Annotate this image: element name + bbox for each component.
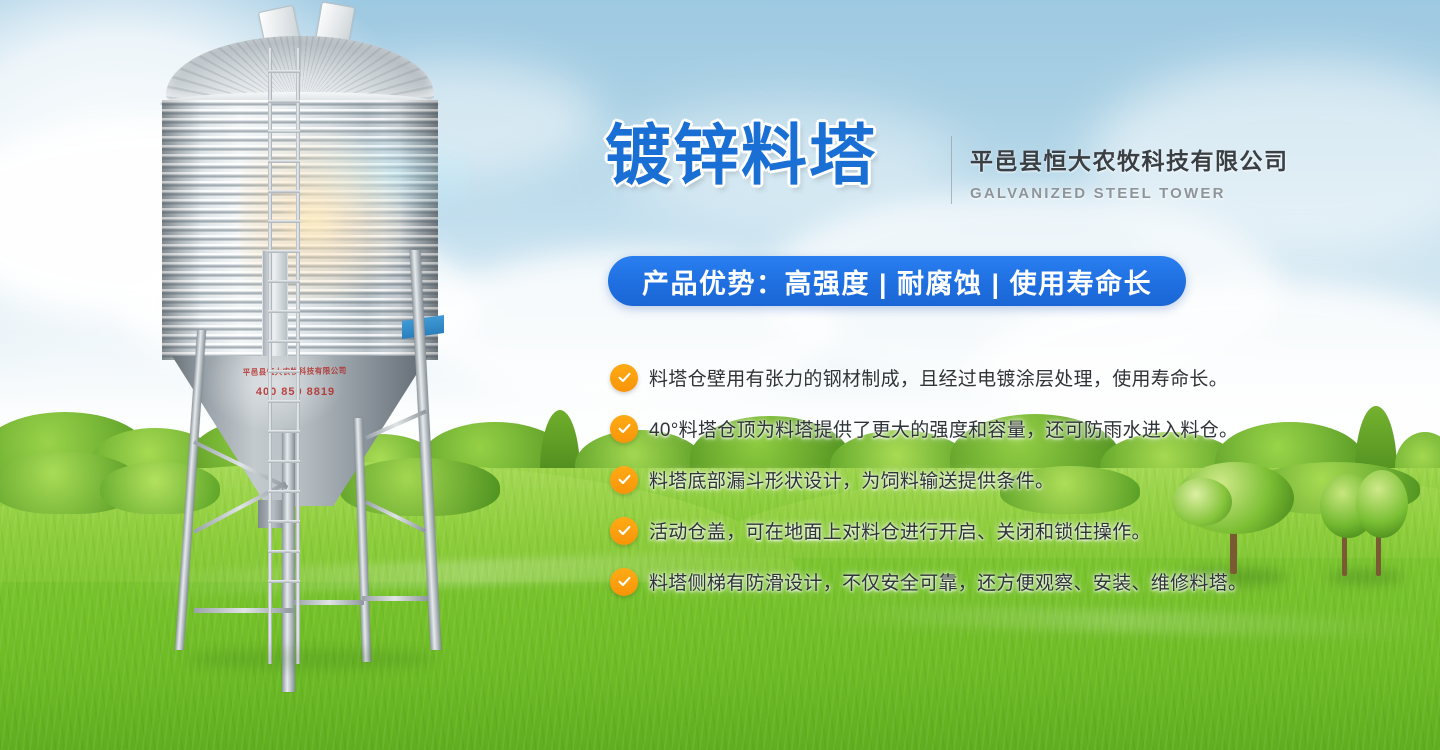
feature-item: 料塔仓壁用有张力的钢材制成，且经过电镀涂层处理，使用寿命长。: [610, 362, 1247, 393]
company-block: 平邑县恒大农牧科技有限公司 GALVANIZED STEEL TOWER: [970, 142, 1289, 202]
feature-text: 活动仓盖，可在地面上对料仓进行开启、关闭和锁住操作。: [649, 517, 1151, 544]
feature-text: 料塔仓壁用有张力的钢材制成，且经过电镀涂层处理，使用寿命长。: [649, 364, 1228, 391]
title-row: 镀锌料塔: [605, 122, 877, 188]
title-divider: [951, 136, 952, 204]
advantage-banner: 产品优势：高强度 | 耐腐蚀 | 使用寿命长: [608, 256, 1186, 306]
feature-item: 料塔侧梯有防滑设计，不仅安全可靠，还方便观察、安装、维修料塔。: [610, 566, 1247, 597]
check-circle-icon: [610, 415, 638, 443]
check-circle-icon: [610, 364, 638, 392]
company-name: 平邑县恒大农牧科技有限公司: [970, 142, 1289, 176]
page-title: 镀锌料塔: [605, 122, 877, 188]
advantage-banner-text: 产品优势：高强度 | 耐腐蚀 | 使用寿命长: [642, 262, 1152, 301]
feature-item: 40°料塔仓顶为料塔提供了更大的强度和容量，还可防雨水进入料仓。: [610, 413, 1247, 444]
feature-item: 料塔底部漏斗形状设计，为饲料输送提供条件。: [610, 464, 1247, 495]
feature-text: 40°料塔仓顶为料塔提供了更大的强度和容量，还可防雨水进入料仓。: [649, 415, 1238, 442]
feature-text: 料塔底部漏斗形状设计，为饲料输送提供条件。: [649, 466, 1054, 493]
check-circle-icon: [610, 568, 638, 596]
feature-list: 料塔仓壁用有张力的钢材制成，且经过电镀涂层处理，使用寿命长。 40°料塔仓顶为料…: [610, 362, 1247, 617]
feature-text: 料塔侧梯有防滑设计，不仅安全可靠，还方便观察、安装、维修料塔。: [649, 568, 1247, 595]
check-circle-icon: [610, 466, 638, 494]
hero-content: 镀锌料塔 平邑县恒大农牧科技有限公司 GALVANIZED STEEL TOWE…: [0, 0, 1440, 750]
product-subtitle-en: GALVANIZED STEEL TOWER: [970, 185, 1289, 202]
check-circle-icon: [610, 517, 638, 545]
feature-item: 活动仓盖，可在地面上对料仓进行开启、关闭和锁住操作。: [610, 515, 1247, 546]
